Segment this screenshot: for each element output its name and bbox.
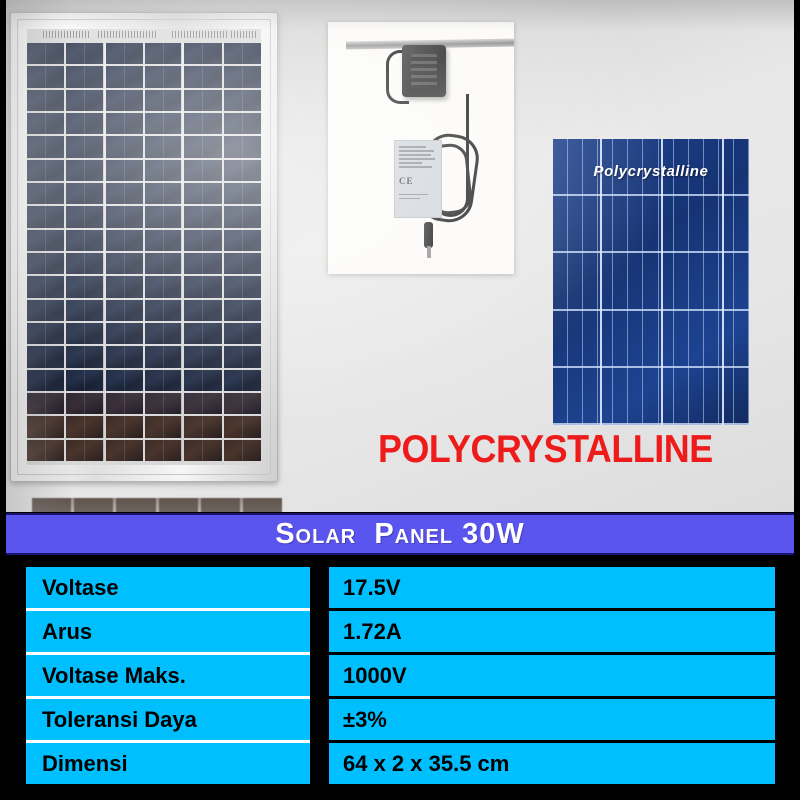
poster-border-bottom bbox=[0, 794, 800, 800]
solar-cell bbox=[184, 370, 221, 391]
solar-cell bbox=[224, 440, 261, 461]
solar-cell bbox=[224, 43, 261, 64]
panel-glass-surface bbox=[27, 29, 261, 465]
panel-top-sticker-labels bbox=[29, 29, 259, 41]
solar-cell bbox=[27, 440, 64, 461]
solar-cell bbox=[106, 300, 143, 321]
solar-cell bbox=[27, 230, 64, 251]
spec-row-label: Arus bbox=[26, 608, 310, 652]
solar-cell bbox=[224, 90, 261, 111]
solar-cell bbox=[106, 393, 143, 414]
specification-table: VoltaseArusVoltase Maks.Toleransi DayaDi… bbox=[6, 557, 794, 794]
solar-cell bbox=[145, 416, 182, 437]
spec-label-column: VoltaseArusVoltase Maks.Toleransi DayaDi… bbox=[25, 566, 311, 785]
solar-cell bbox=[66, 370, 103, 391]
solar-cell bbox=[184, 90, 221, 111]
solar-cell bbox=[184, 230, 221, 251]
solar-cell bbox=[184, 416, 221, 437]
solar-cell bbox=[106, 440, 143, 461]
solar-cell bbox=[145, 136, 182, 157]
solar-cell bbox=[145, 253, 182, 274]
solar-cell bbox=[27, 90, 64, 111]
solar-cell bbox=[106, 346, 143, 367]
solar-cell bbox=[106, 230, 143, 251]
poster-border-left bbox=[0, 0, 6, 800]
solar-cell bbox=[106, 206, 143, 227]
solar-cell bbox=[66, 393, 103, 414]
product-title: Solar Panel 30W bbox=[275, 518, 525, 551]
solar-cell bbox=[66, 90, 103, 111]
solar-cell bbox=[184, 160, 221, 181]
solar-cell bbox=[184, 300, 221, 321]
spec-row-value: 64 x 2 x 35.5 cm bbox=[329, 740, 775, 784]
solar-cell bbox=[66, 206, 103, 227]
photo-collage-area: CE Polycrystalline POLYCRYSTALLINE bbox=[0, 0, 800, 512]
spec-row-value: 17.5V bbox=[329, 567, 775, 608]
solar-cell bbox=[145, 393, 182, 414]
solar-cell bbox=[145, 90, 182, 111]
solar-cell bbox=[66, 276, 103, 297]
solar-cell bbox=[145, 346, 182, 367]
solar-cell bbox=[66, 253, 103, 274]
solar-cell bbox=[145, 276, 182, 297]
solar-cell bbox=[145, 206, 182, 227]
solar-cell bbox=[184, 276, 221, 297]
solar-cell bbox=[27, 276, 64, 297]
solar-cell bbox=[145, 66, 182, 87]
solar-cell bbox=[106, 160, 143, 181]
spec-row-label: Dimensi bbox=[26, 740, 310, 784]
solar-cell bbox=[224, 230, 261, 251]
spec-row-value: ±3% bbox=[329, 696, 775, 740]
cell-row-lines bbox=[553, 139, 749, 425]
solar-cell bbox=[145, 323, 182, 344]
panel-cell-grid bbox=[27, 43, 261, 461]
polycrystalline-watermark-label: Polycrystalline bbox=[553, 163, 749, 180]
solar-cell bbox=[224, 300, 261, 321]
solar-cell bbox=[106, 253, 143, 274]
solar-cell bbox=[66, 230, 103, 251]
solar-cell bbox=[106, 113, 143, 134]
solar-cell bbox=[66, 136, 103, 157]
solar-cell bbox=[184, 206, 221, 227]
solar-cell bbox=[224, 183, 261, 204]
solar-cell bbox=[145, 300, 182, 321]
solar-cell bbox=[66, 440, 103, 461]
panel-reflection bbox=[32, 498, 282, 512]
solar-cell bbox=[106, 43, 143, 64]
panel-aluminium-frame bbox=[10, 12, 278, 482]
product-spec-sticker: CE bbox=[394, 140, 442, 218]
solar-cell bbox=[224, 66, 261, 87]
solar-cell bbox=[66, 346, 103, 367]
product-title-bar: Solar Panel 30W bbox=[6, 513, 794, 555]
solar-cell bbox=[224, 370, 261, 391]
solar-cell bbox=[145, 160, 182, 181]
solar-cell bbox=[106, 136, 143, 157]
solar-cell bbox=[224, 160, 261, 181]
solar-cell bbox=[66, 323, 103, 344]
solar-cell bbox=[184, 43, 221, 64]
product-poster: CE Polycrystalline POLYCRYSTALLINE Solar… bbox=[0, 0, 800, 800]
solar-cell bbox=[224, 323, 261, 344]
spec-row-label: Toleransi Daya bbox=[26, 696, 310, 740]
solar-cell bbox=[27, 416, 64, 437]
ce-mark-icon: CE bbox=[399, 176, 437, 186]
solar-cell bbox=[224, 346, 261, 367]
solar-cell bbox=[106, 66, 143, 87]
solar-cell bbox=[66, 300, 103, 321]
solar-cell bbox=[145, 370, 182, 391]
solar-cell bbox=[184, 253, 221, 274]
solar-cell bbox=[27, 43, 64, 64]
spec-row-value: 1000V bbox=[329, 652, 775, 696]
solar-cell bbox=[66, 113, 103, 134]
polycrystalline-headline: POLYCRYSTALLINE bbox=[378, 430, 746, 469]
solar-cell bbox=[27, 66, 64, 87]
cell-row bbox=[553, 253, 749, 310]
spec-row-value: 1.72A bbox=[329, 608, 775, 652]
junction-box bbox=[402, 45, 446, 97]
poster-border-right bbox=[794, 0, 800, 800]
spec-row-label: Voltase Maks. bbox=[26, 652, 310, 696]
solar-cell bbox=[106, 276, 143, 297]
solar-cell bbox=[184, 113, 221, 134]
polycrystalline-cell-photo: Polycrystalline bbox=[553, 139, 749, 425]
solar-cell bbox=[27, 393, 64, 414]
cell-row bbox=[553, 368, 749, 425]
solar-cell bbox=[184, 183, 221, 204]
solar-cell bbox=[106, 183, 143, 204]
solar-cell bbox=[106, 323, 143, 344]
spec-row-label: Voltase bbox=[26, 567, 310, 608]
solar-cell bbox=[27, 346, 64, 367]
solar-cell bbox=[66, 66, 103, 87]
solar-cell bbox=[66, 183, 103, 204]
solar-cell bbox=[106, 370, 143, 391]
solar-cell bbox=[27, 206, 64, 227]
solar-cell bbox=[184, 66, 221, 87]
dc-connector-plug bbox=[424, 222, 433, 248]
solar-cell bbox=[184, 393, 221, 414]
solar-cell bbox=[27, 253, 64, 274]
solar-cell bbox=[224, 253, 261, 274]
solar-cell bbox=[66, 160, 103, 181]
cell-row bbox=[553, 311, 749, 368]
solar-cell bbox=[66, 43, 103, 64]
solar-cell bbox=[66, 416, 103, 437]
solar-cell bbox=[27, 370, 64, 391]
solar-cell bbox=[145, 230, 182, 251]
solar-cell bbox=[145, 440, 182, 461]
solar-cell bbox=[106, 416, 143, 437]
solar-cell bbox=[184, 346, 221, 367]
solar-cell bbox=[224, 393, 261, 414]
solar-cell bbox=[145, 113, 182, 134]
spec-value-column: 17.5V1.72A1000V±3%64 x 2 x 35.5 cm bbox=[328, 566, 776, 785]
solar-cell bbox=[224, 136, 261, 157]
solar-cell bbox=[224, 416, 261, 437]
solar-cell bbox=[184, 323, 221, 344]
solar-cell bbox=[145, 43, 182, 64]
solar-cell bbox=[27, 300, 64, 321]
solar-cell bbox=[27, 113, 64, 134]
solar-cell bbox=[145, 183, 182, 204]
solar-cell bbox=[27, 160, 64, 181]
cell-row bbox=[553, 196, 749, 253]
solar-cell bbox=[27, 323, 64, 344]
solar-cell bbox=[27, 183, 64, 204]
solar-cell bbox=[27, 136, 64, 157]
solar-cell bbox=[106, 90, 143, 111]
solar-panel-product-photo bbox=[10, 12, 278, 482]
solar-cell bbox=[224, 206, 261, 227]
solar-cell bbox=[184, 440, 221, 461]
solar-cell bbox=[184, 136, 221, 157]
solar-cell bbox=[224, 276, 261, 297]
junction-box-photo: CE bbox=[328, 22, 514, 274]
solar-cell bbox=[224, 113, 261, 134]
